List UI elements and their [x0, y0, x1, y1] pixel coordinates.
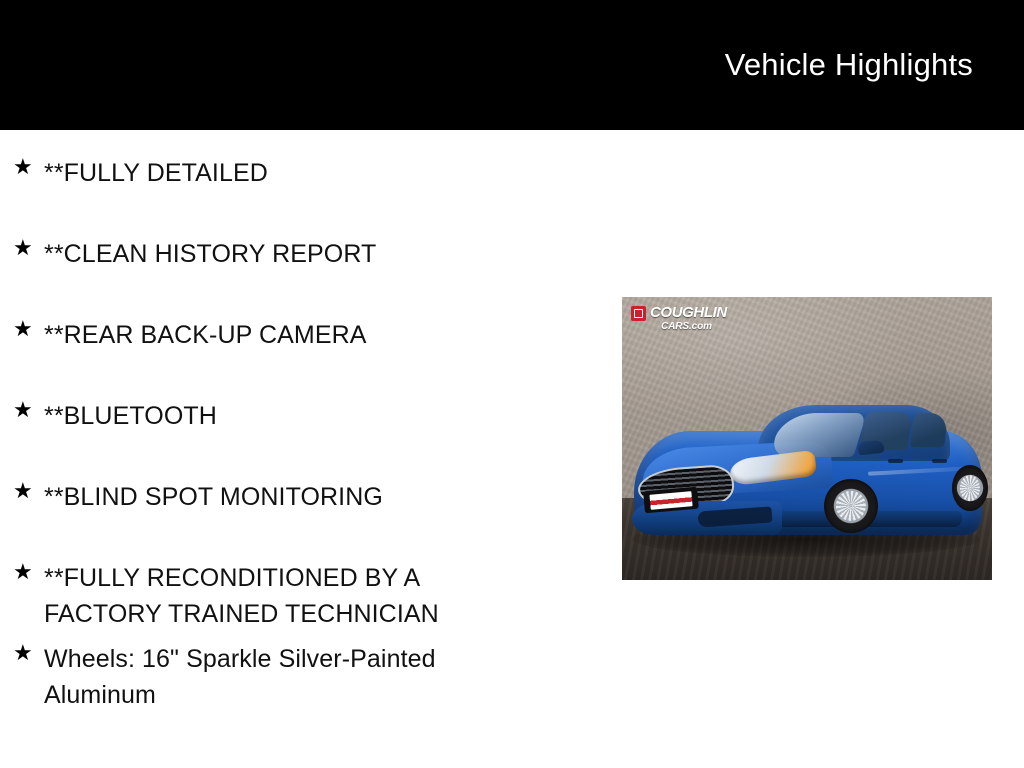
list-item: ★ **FULLY RECONDITIONED BY A FACTORY TRA… — [0, 535, 600, 616]
vehicle-highlights-list: ★ **FULLY DETAILED ★ **CLEAN HISTORY REP… — [0, 130, 600, 697]
list-item: ★ **BLUETOOTH — [0, 373, 600, 454]
star-bullet-icon: ★ — [13, 480, 33, 502]
star-bullet-icon: ★ — [13, 318, 33, 340]
list-item-label: **REAR BACK-UP CAMERA — [44, 292, 600, 353]
list-item: ★ **FULLY DETAILED — [0, 130, 600, 211]
list-item: ★ Wheels: 16" Sparkle Silver-Painted Alu… — [0, 616, 600, 697]
car-rear-window — [910, 413, 948, 447]
star-bullet-icon: ★ — [13, 399, 33, 421]
list-item: ★ **REAR BACK-UP CAMERA — [0, 292, 600, 373]
car-license-plate — [643, 487, 699, 514]
star-bullet-icon: ★ — [13, 642, 33, 664]
vehicle-photo: COUGHLIN CARS.com — [622, 297, 992, 580]
car-side-mirror — [857, 440, 884, 456]
star-bullet-icon: ★ — [13, 156, 33, 178]
list-item-label: **BLIND SPOT MONITORING — [44, 454, 600, 515]
page-title: Vehicle Highlights — [725, 47, 973, 83]
car-door-handle — [932, 459, 947, 463]
car-license-plate-graphic — [649, 491, 692, 510]
list-item-label: **CLEAN HISTORY REPORT — [44, 211, 600, 272]
car-front-wheel — [824, 479, 878, 533]
car-rear-wheel — [952, 465, 988, 511]
car-door-handle — [888, 459, 903, 463]
car-illustration — [626, 393, 988, 563]
header-bar: Vehicle Highlights — [0, 0, 1024, 130]
list-item-label: Wheels: 16" Sparkle Silver-Painted Alumi… — [44, 616, 600, 713]
list-item: ★ **CLEAN HISTORY REPORT — [0, 211, 600, 292]
star-bullet-icon: ★ — [13, 561, 33, 583]
list-item-label: **BLUETOOTH — [44, 373, 600, 434]
star-bullet-icon: ★ — [13, 237, 33, 259]
list-item-label: **FULLY DETAILED — [44, 130, 600, 191]
list-item: ★ **BLIND SPOT MONITORING — [0, 454, 600, 535]
